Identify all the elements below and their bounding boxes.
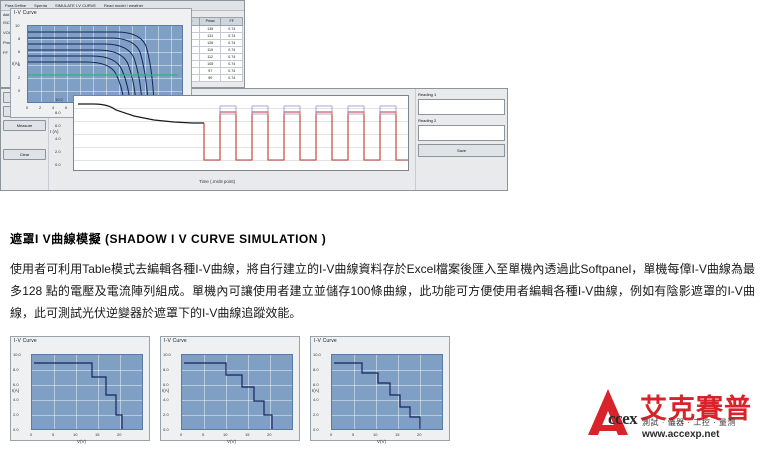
measurement-panel[interactable]: Measure Start Measure Clear: [0, 88, 508, 191]
cell-ff[interactable]: 0.74: [221, 54, 243, 61]
cell-ff[interactable]: 0.74: [221, 40, 243, 47]
col-pmax: Pmax: [199, 18, 221, 26]
ytick-5: 0.0: [313, 427, 319, 432]
ytick-2: 6.0: [13, 382, 19, 387]
scope-plot: [73, 95, 409, 171]
xtick-3: 15: [245, 432, 249, 437]
scope-ytick-3: 4.0: [55, 136, 61, 141]
bottom-chart-2: I-V Curve 10.0 8.0 6.0 4.0 2.0 0.0 0 5 1…: [160, 336, 300, 441]
page-heading: 遮罩I V曲線模擬 (SHADOW I V CURVE SIMULATION ): [10, 230, 610, 247]
ytick-4: 2.0: [13, 412, 19, 417]
scope-container: 10.0 8.0 6.0 4.0 2.0 0.0 I (A) Time (.ms…: [49, 89, 415, 190]
clear-button[interactable]: Clear: [3, 149, 46, 160]
logo-url: www.accexp.net: [642, 429, 719, 440]
cell-pmax[interactable]: 90: [199, 75, 221, 82]
y-axis-label: I(A): [12, 388, 19, 393]
chart-title: I-V Curve: [311, 337, 449, 344]
bottom-chart-3: I-V Curve 10.0 8.0 6.0 4.0 2.0 0.0 0 5 1…: [310, 336, 450, 441]
xtick-3: 15: [395, 432, 399, 437]
cell-ff[interactable]: 0.74: [221, 61, 243, 68]
scope-ytick-1: 8.0: [55, 110, 61, 115]
ytick-0: 10.0: [313, 352, 321, 357]
xtick-1: 5: [352, 432, 354, 437]
cell-pmax[interactable]: 126: [199, 40, 221, 47]
ytick-0: 10.0: [13, 352, 21, 357]
cell-ff[interactable]: 0.74: [221, 68, 243, 75]
ytick-2: 6.0: [163, 382, 169, 387]
xtick-0: 0: [180, 432, 182, 437]
plot-area: [181, 354, 293, 430]
xtick-1: 5: [202, 432, 204, 437]
x-axis-label: V(V): [77, 439, 86, 444]
cell-pmax[interactable]: 105: [199, 61, 221, 68]
ytick-3: 4.0: [313, 397, 319, 402]
cell-ff[interactable]: 0.74: [221, 33, 243, 40]
ytick-2: 6.0: [313, 382, 319, 387]
body-paragraph: 使用者可利用Table模式去編輯各種I-V曲線，將自行建立的I-V曲線資料存於E…: [10, 258, 755, 324]
xtick-4: 20: [417, 432, 421, 437]
chart-title: I-V Curve: [11, 337, 149, 344]
ytick-4: 2.0: [313, 412, 319, 417]
chart-title: I-V Curve: [11, 9, 191, 16]
cell-ff[interactable]: 0.74: [221, 47, 243, 54]
y-axis-label: I(A): [12, 61, 19, 66]
scope-x-axis-label: Time (.ms/8 point): [199, 179, 235, 184]
logo-wordmark: ccex: [608, 409, 637, 429]
reading2-label: Reading 2: [418, 118, 505, 123]
cell-ff[interactable]: 0.74: [221, 75, 243, 82]
company-logo: ccex 艾克賽普 測試 · 儀器 · 工控 · 量测 www.accexp.n…: [582, 385, 772, 443]
xtick-0: 0: [330, 432, 332, 437]
col-ff: FF: [221, 18, 243, 26]
xtick-2: 10: [73, 432, 77, 437]
plot-area: [31, 354, 143, 430]
scope-ytick-5: 0.0: [55, 162, 61, 167]
cell-pmax[interactable]: 119: [199, 47, 221, 54]
plot-area: [331, 354, 443, 430]
chart-title: I-V Curve: [161, 337, 299, 344]
cell-pmax[interactable]: 97: [199, 68, 221, 75]
ytick-1: 8.0: [13, 367, 19, 372]
logo-tagline: 測試 · 儀器 · 工控 · 量测: [642, 417, 736, 428]
ytick-3: 4.0: [163, 397, 169, 402]
x-axis-label: V(V): [227, 439, 236, 444]
cell-pmax[interactable]: 131: [199, 33, 221, 40]
xtick-0: 0: [30, 432, 32, 437]
reading1-label: Reading 1: [418, 92, 505, 97]
bottom-chart-1: I-V Curve 10.0 8.0 6.0 4.0 2.0 0.0 0 5 1…: [10, 336, 150, 441]
xtick-3: 15: [95, 432, 99, 437]
ytick-4: 2.0: [163, 412, 169, 417]
cell-ff[interactable]: 0.74: [221, 26, 243, 33]
reading1-box[interactable]: [418, 99, 505, 115]
cell-pmax[interactable]: 112: [199, 54, 221, 61]
ytick-5: 0.0: [163, 427, 169, 432]
y-axis-label: I(A): [162, 388, 169, 393]
scope-ytick-2: 6.0: [55, 123, 61, 128]
cell-pmax[interactable]: 135: [199, 26, 221, 33]
xtick-1: 5: [52, 432, 54, 437]
ytick-1: 8.0: [163, 367, 169, 372]
ytick-0: 10.0: [163, 352, 171, 357]
scope-y-axis-label: I (A): [50, 129, 59, 134]
xtick-4: 20: [117, 432, 121, 437]
save-button[interactable]: Save: [418, 144, 505, 157]
ytick-3: 4.0: [13, 397, 19, 402]
y-axis-label: I(A): [312, 388, 319, 393]
xtick-2: 10: [373, 432, 377, 437]
ytick-1: 8.0: [313, 367, 319, 372]
ytick-5: 0.0: [13, 427, 19, 432]
reading2-box[interactable]: [418, 125, 505, 141]
xtick-4: 20: [267, 432, 271, 437]
reading-controls[interactable]: Reading 1 Reading 2 Save: [415, 89, 507, 190]
x-axis-label: V(V): [377, 439, 386, 444]
xtick-2: 10: [223, 432, 227, 437]
scope-ytick-0: 10.0: [55, 97, 63, 102]
scope-ytick-4: 2.0: [55, 149, 61, 154]
